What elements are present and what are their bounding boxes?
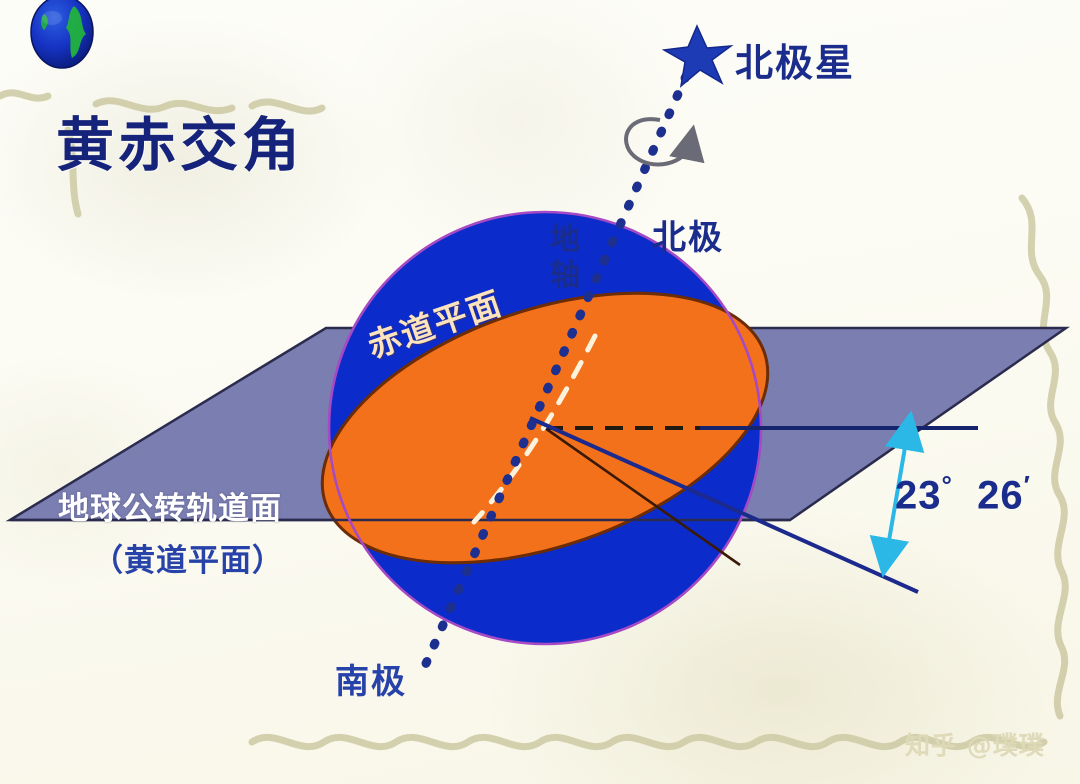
diagram-canvas: 黄赤交角 北极星 北极 地轴 赤道平面 地球公转轨道面 （黄道平面） 南极 23… (0, 0, 1080, 784)
angle-minutes-value: 26 (977, 473, 1024, 517)
page-title: 黄赤交角 (56, 98, 304, 182)
label-earth-axis: 地轴 (548, 222, 582, 294)
label-south-pole: 南极 (335, 654, 407, 703)
label-north-pole: 北极 (652, 210, 724, 259)
angle-degrees-value: 23 (895, 473, 942, 517)
rotation-arrow-icon (626, 119, 690, 164)
label-ecliptic-plane: （黄道平面） (92, 535, 284, 580)
minute-symbol: ′ (1024, 470, 1031, 500)
star-icon (664, 26, 731, 86)
globe-icon (31, 0, 93, 68)
label-obliquity-angle: 23° 26′ (895, 470, 1031, 518)
degree-symbol: ° (942, 470, 953, 500)
label-polaris: 北极星 (735, 32, 855, 87)
label-orbital-plane: 地球公转轨道面 (58, 483, 282, 528)
watermark: 知乎 @璞璞 (905, 726, 1045, 762)
